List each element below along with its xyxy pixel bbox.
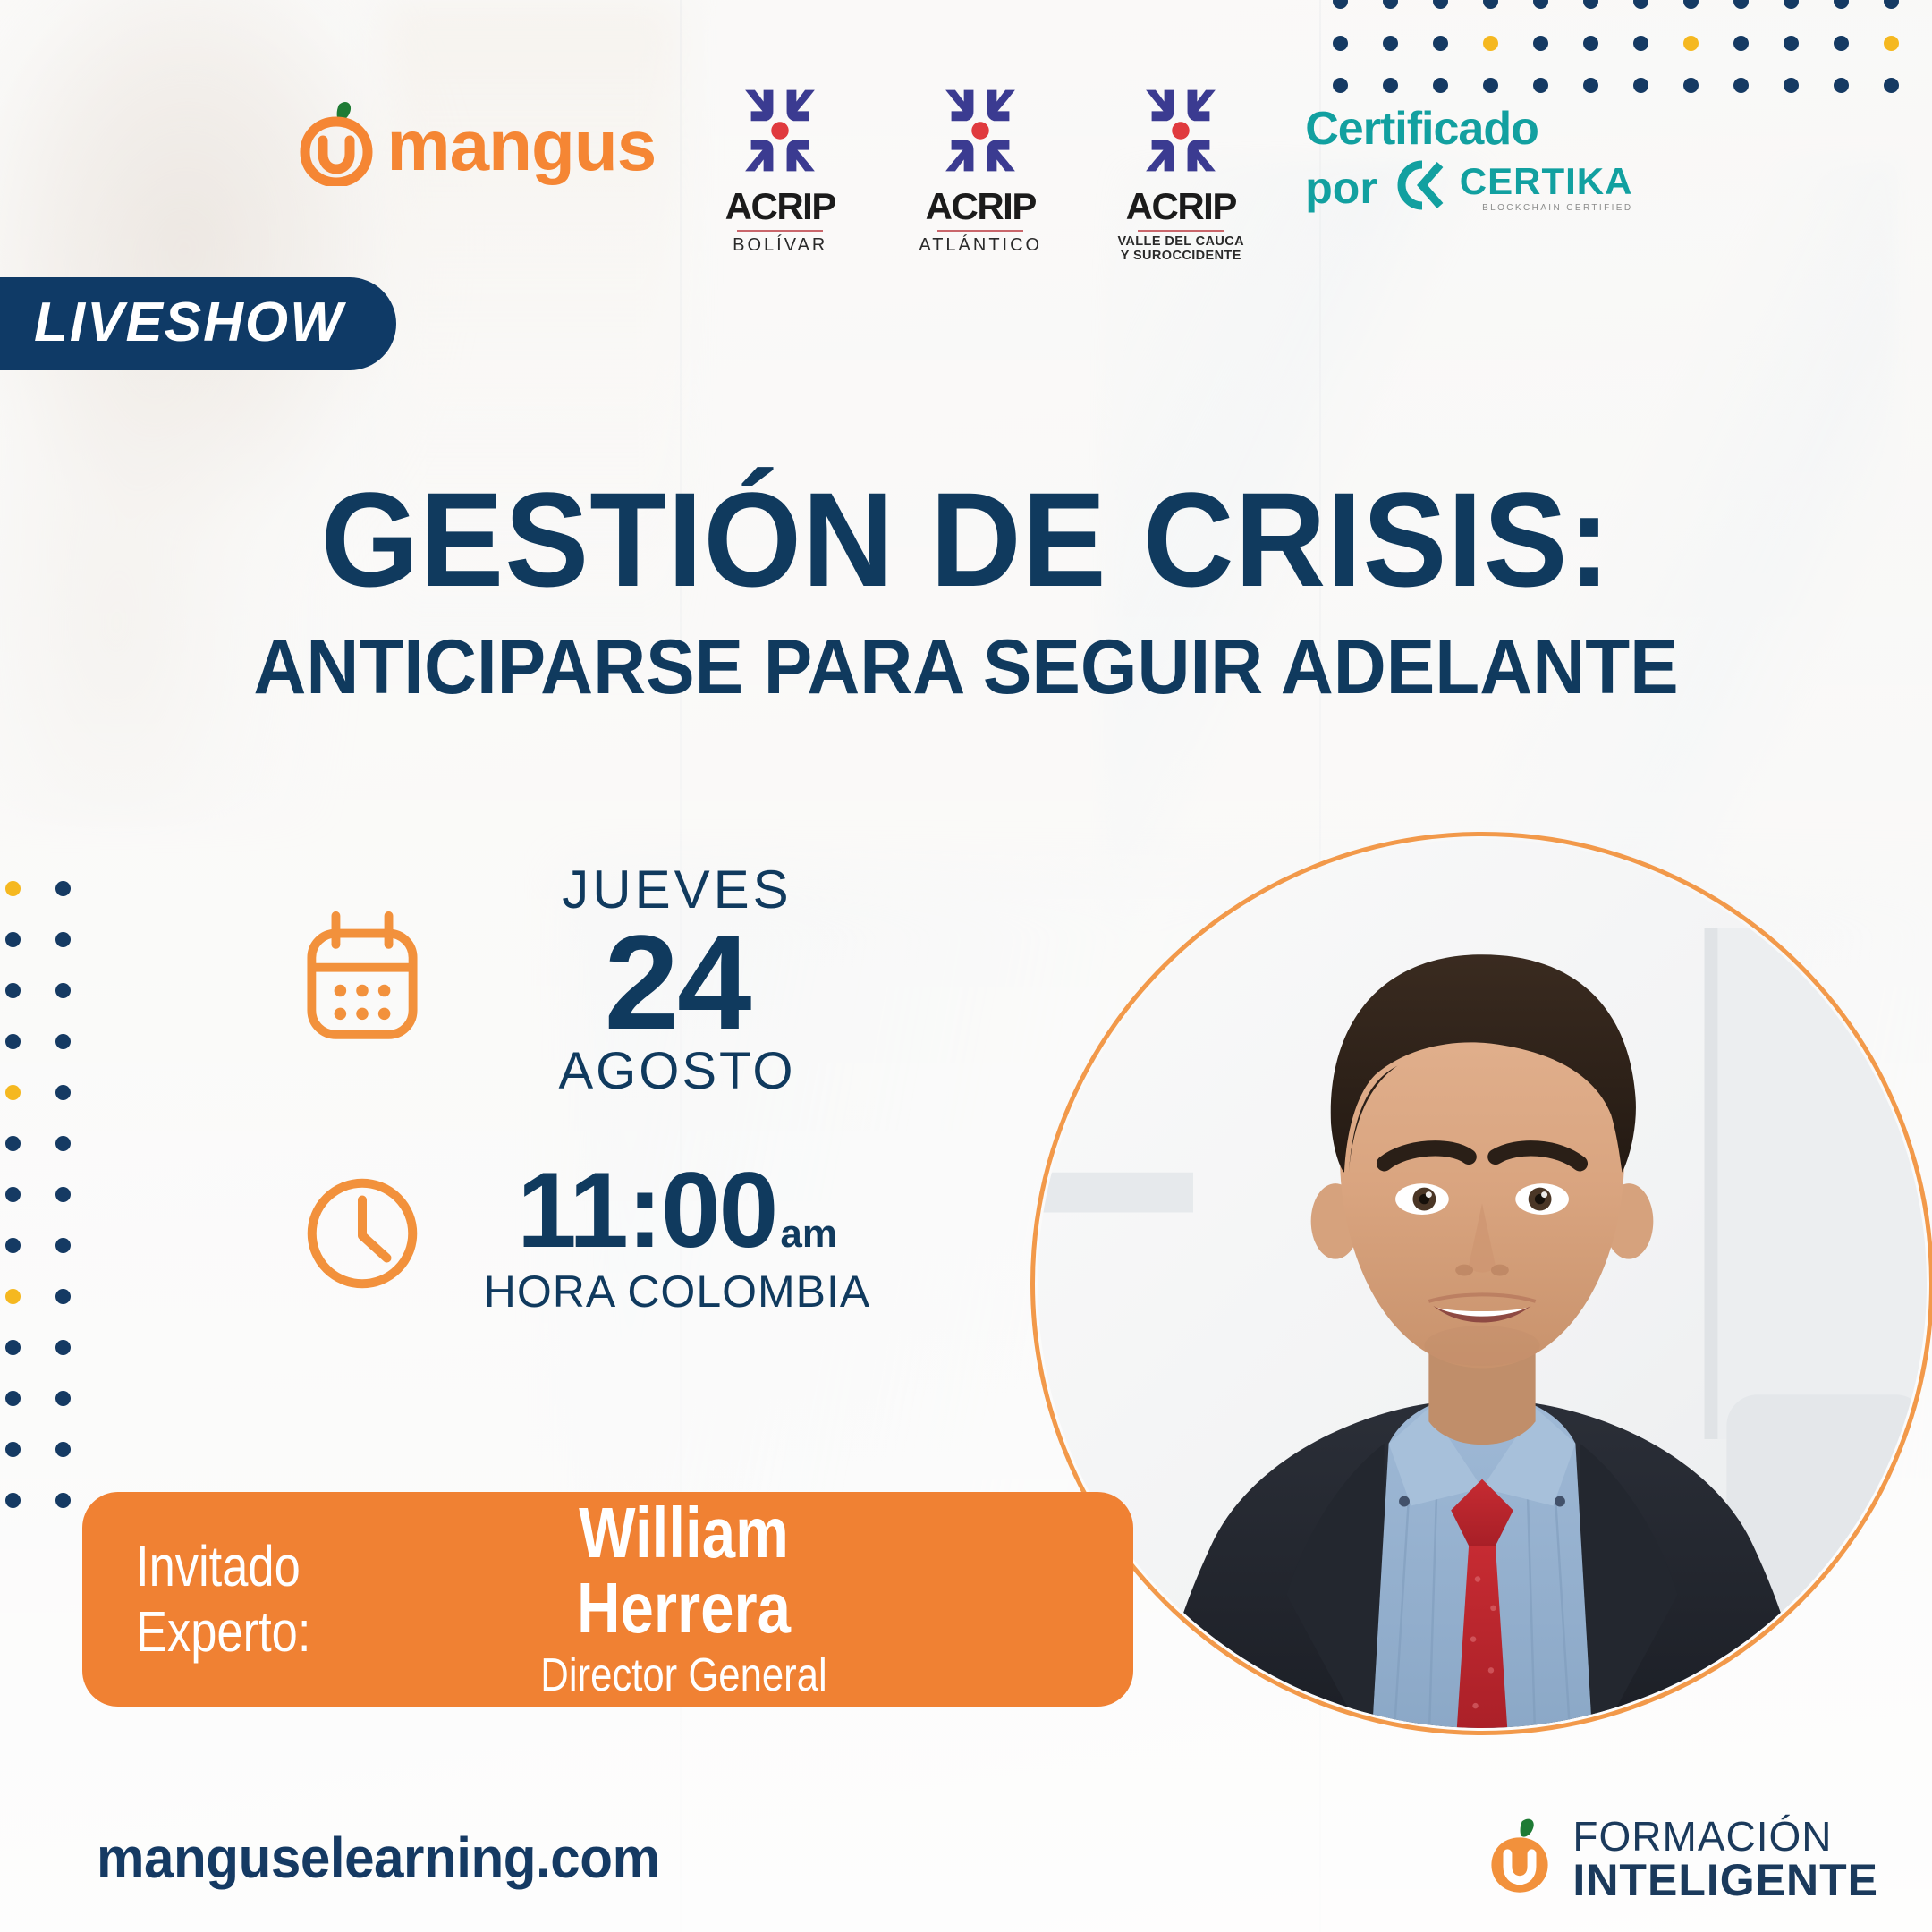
decorative-dot [5, 1340, 21, 1355]
decorative-dot [55, 1034, 71, 1049]
acrip-snowflake-icon [932, 82, 1029, 179]
calendar-icon [295, 907, 429, 1055]
speaker-banner: Invitado Experto: William Herrera Direct… [82, 1492, 1133, 1707]
decorative-dot [1383, 36, 1398, 51]
mango-icon [300, 100, 373, 191]
partner-logo-row: mangus ACRIP BOLÍVAR [0, 82, 1932, 264]
footer-brand-line2: INTELIGENTE [1572, 1858, 1878, 1903]
decorative-dot [1784, 36, 1799, 51]
decorative-dot [1784, 0, 1799, 9]
speaker-label-line2: Experto: [136, 1599, 378, 1665]
event-timezone: HORA COLOMBIA [469, 1269, 885, 1314]
acrip-divider [937, 230, 1023, 232]
footer-brand-logo: FORMACIÓN INTELIGENTE [1487, 1816, 1878, 1903]
decorative-dot [5, 881, 21, 896]
decorative-dot [55, 1289, 71, 1304]
certificado-por-label: por [1305, 165, 1377, 210]
decorative-dot [55, 881, 71, 896]
acrip-snowflake-icon [1132, 82, 1229, 179]
mangus-logo: mangus [300, 100, 657, 191]
speaker-label: Invitado Experto: [82, 1534, 431, 1665]
title-block: GESTIÓN DE CRISIS: ANTICIPARSE PARA SEGU… [0, 474, 1932, 706]
decorative-dot [1884, 0, 1899, 9]
page-title: GESTIÓN DE CRISIS: [58, 474, 1874, 606]
acrip-region-label: BOLÍVAR [733, 235, 827, 255]
decorative-dot [5, 983, 21, 998]
decorative-dot [1483, 0, 1498, 9]
speaker-portrait [1030, 832, 1932, 1735]
decorative-dot [55, 983, 71, 998]
decorative-dot [5, 1391, 21, 1406]
certika-wordmark: CERTIKA [1460, 163, 1633, 200]
partner-logo-acrip-bolivar: ACRIP BOLÍVAR [704, 82, 856, 255]
mango-icon [1487, 1818, 1553, 1901]
certificado-label: Certificado [1305, 106, 1632, 152]
decorative-dot [1683, 0, 1699, 9]
decorative-dot [1383, 0, 1398, 9]
event-details: JUEVES 24 AGOSTO 11:00 am HORA COLOMBIA [295, 863, 885, 1314]
decorative-dot [5, 1238, 21, 1253]
decorative-dot [1333, 0, 1348, 9]
decorative-dot [5, 1085, 21, 1100]
poster-canvas: mangus ACRIP BOLÍVAR [0, 0, 1932, 1932]
speaker-role: Director General [471, 1649, 896, 1703]
event-time-meridiem: am [780, 1215, 837, 1254]
acrip-wordmark: ACRIP [926, 188, 1036, 225]
speaker-name: William Herrera [471, 1496, 896, 1646]
decorative-dot [1483, 36, 1498, 51]
decorative-dot [1834, 0, 1849, 9]
decorative-dot [1733, 0, 1749, 9]
decorative-dot [55, 1136, 71, 1151]
decorative-dot [1683, 36, 1699, 51]
decorative-dot [5, 1136, 21, 1151]
decorative-dot [1533, 0, 1548, 9]
liveshow-badge-label: LIVESHOW [34, 295, 344, 351]
acrip-wordmark: ACRIP [725, 188, 835, 225]
partner-logo-acrip-valle: ACRIP VALLE DEL CAUCA Y SUROCCIDENTE [1105, 82, 1257, 264]
decorative-dot [55, 932, 71, 947]
portrait-ring [1030, 832, 1932, 1735]
decorative-dot [1583, 0, 1598, 9]
decorative-dot [55, 1340, 71, 1355]
decorative-dot [5, 1187, 21, 1202]
decorative-dot [55, 1238, 71, 1253]
decorative-dot [55, 1442, 71, 1457]
event-time-row: 11:00 am HORA COLOMBIA [295, 1157, 885, 1314]
speaker-label-line1: Invitado [136, 1534, 378, 1599]
certification-logo: Certificado por CERTIKA BLOCKCHAIN CERTI… [1305, 106, 1632, 217]
partner-logo-acrip-atlantico: ACRIP ATLÁNTICO [904, 82, 1056, 255]
decorative-dot [1533, 36, 1548, 51]
decorative-dot [5, 932, 21, 947]
decorative-dot [55, 1391, 71, 1406]
acrip-divider [1138, 230, 1224, 232]
decorative-dot [1433, 36, 1448, 51]
decorative-dot [1633, 36, 1648, 51]
page-subtitle: ANTICIPARSE PARA SEGUIR ADELANTE [48, 629, 1884, 706]
acrip-region-label: ATLÁNTICO [919, 235, 1042, 255]
decorative-dot [1733, 36, 1749, 51]
decorative-dot [1834, 36, 1849, 51]
acrip-region-label-line1: VALLE DEL CAUCA [1117, 235, 1244, 250]
acrip-divider [737, 230, 823, 232]
event-date-row: JUEVES 24 AGOSTO [295, 863, 885, 1097]
decorative-dot-grid-left [0, 863, 88, 1526]
decorative-dot [1884, 36, 1899, 51]
ck-monogram-icon [1386, 157, 1451, 217]
certika-tagline: BLOCKCHAIN CERTIFIED [1460, 203, 1633, 213]
speaker-identity: William Herrera Director General [431, 1496, 1133, 1703]
decorative-dot [5, 1493, 21, 1508]
acrip-region-label-line2: Y SUROCCIDENTE [1121, 250, 1241, 264]
mangus-wordmark: mangus [387, 110, 657, 182]
decorative-dot [5, 1034, 21, 1049]
acrip-snowflake-icon [732, 82, 828, 179]
decorative-dot [1633, 0, 1648, 9]
decorative-dot [5, 1289, 21, 1304]
decorative-dot [55, 1493, 71, 1508]
clock-icon [295, 1166, 429, 1305]
event-time: 11:00 [517, 1157, 776, 1264]
decorative-dot [1333, 36, 1348, 51]
decorative-dot [1433, 0, 1448, 9]
decorative-dot [55, 1085, 71, 1100]
acrip-wordmark: ACRIP [1126, 188, 1236, 225]
footer-brand-line1: FORMACIÓN [1572, 1816, 1878, 1858]
footer-website[interactable]: manguselearning.com [97, 1825, 660, 1891]
decorative-dot [5, 1442, 21, 1457]
event-day: 24 [469, 920, 885, 1044]
decorative-dot [1583, 36, 1598, 51]
decorative-dot [55, 1187, 71, 1202]
liveshow-badge: LIVESHOW [0, 277, 396, 370]
event-month: AGOSTO [469, 1046, 885, 1097]
